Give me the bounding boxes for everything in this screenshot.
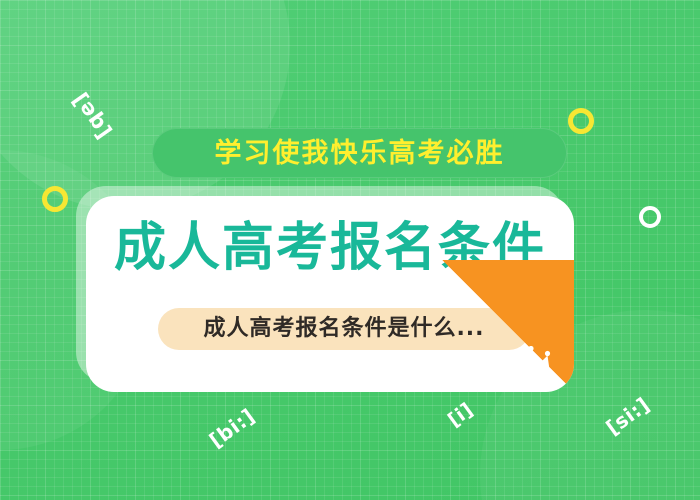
top-banner-text: 学习使我快乐高考必胜 (215, 140, 505, 167)
card-corner-accent (442, 260, 574, 392)
decorative-ring-yellow-top (568, 108, 594, 134)
top-banner-pill: 学习使我快乐高考必胜 (152, 128, 567, 178)
crown-icon (510, 346, 552, 376)
main-card: 成人高考报名条件 成人高考报名条件是什么... (86, 196, 574, 392)
decorative-ring-white-right (639, 206, 661, 228)
poster-canvas: [qe] [bi:] [i] [si:] 学习使我快乐高考必胜 成人高考报名条件… (0, 0, 700, 500)
decorative-ring-yellow-left (42, 186, 68, 212)
